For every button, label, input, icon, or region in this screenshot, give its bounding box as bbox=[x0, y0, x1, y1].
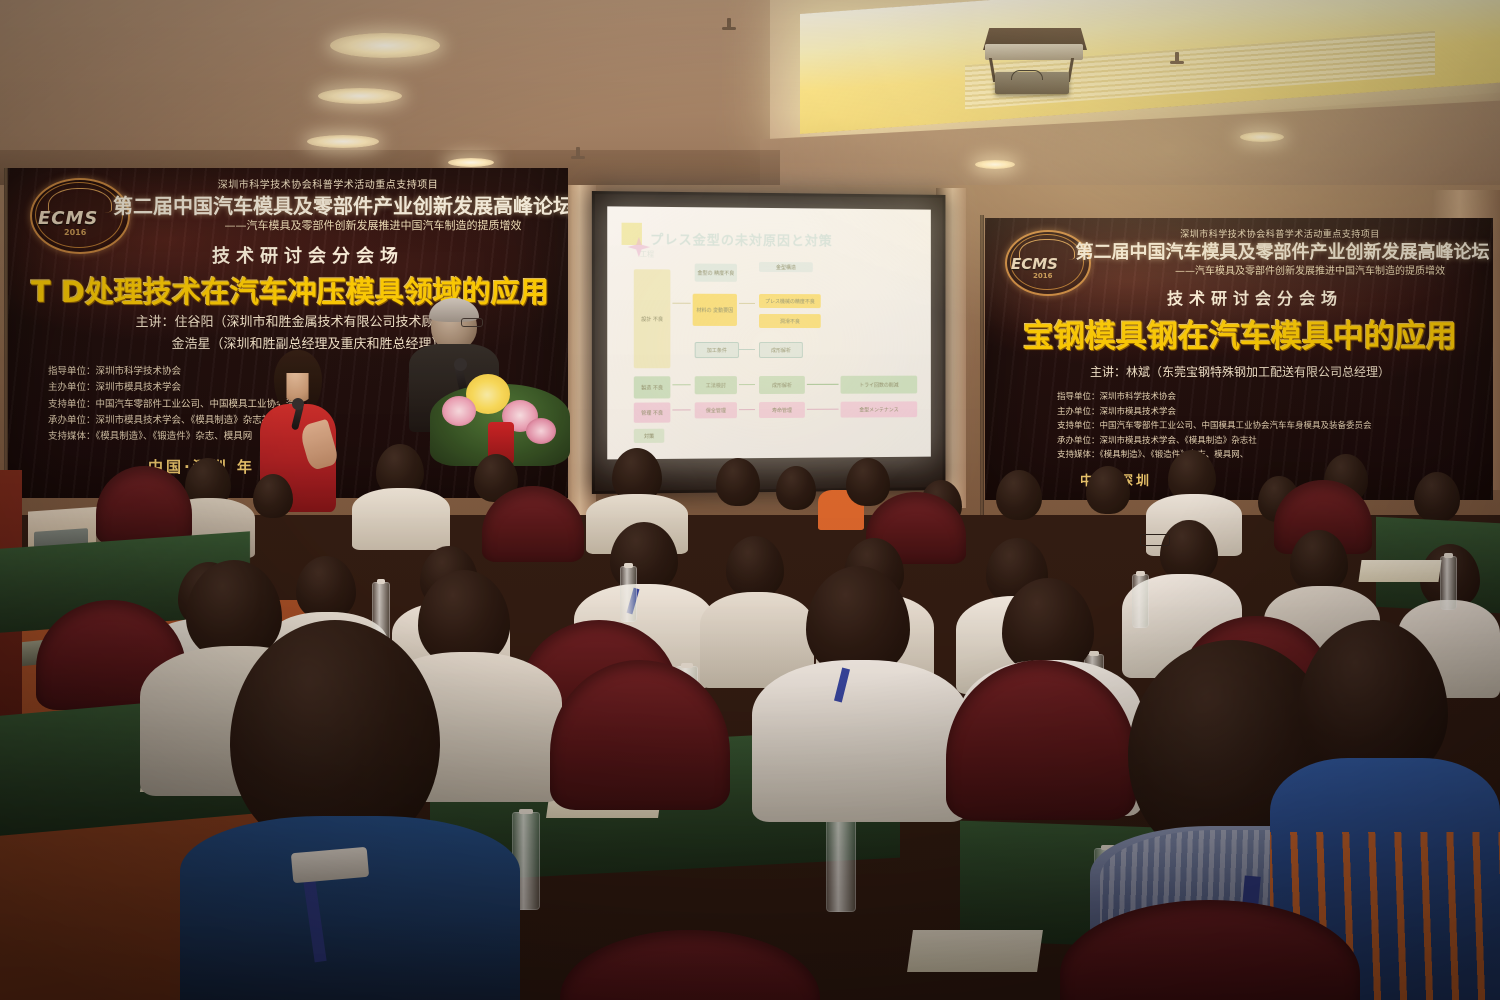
right-banner-section: 技术研讨会分会场 bbox=[1065, 290, 1445, 308]
projector-cable bbox=[1011, 70, 1043, 80]
ecms-logo-year: 2016 bbox=[64, 228, 86, 237]
flow-box: 保全管理 bbox=[695, 402, 737, 418]
flow-box: 製造 不良 bbox=[634, 376, 671, 398]
downlight-icon bbox=[330, 33, 440, 58]
flow-box: プレス機械の精度不良 bbox=[759, 294, 821, 308]
foreground-person-left bbox=[180, 620, 520, 1000]
flow-arrow bbox=[807, 409, 839, 410]
flow-box: 成形解析 bbox=[759, 376, 805, 394]
downlight-icon bbox=[307, 135, 379, 148]
left-banner-subheadline: ——汽车模具及零部件创新发展推进中国汽车制造的提质增效 bbox=[158, 220, 568, 233]
left-banner-supporter-line: 深圳市科学技术协会科普学术活动重点支持项目 bbox=[118, 180, 538, 192]
eyeglasses-icon bbox=[461, 318, 483, 327]
flow-box: 潤滑不良 bbox=[759, 314, 821, 328]
flow-box: 材料の 変動要因 bbox=[693, 294, 737, 326]
sprinkler-icon bbox=[576, 147, 580, 159]
flow-box: 金型の 精度不良 bbox=[695, 264, 737, 282]
sprinkler-icon bbox=[1175, 52, 1179, 64]
flow-box: 金型構造 bbox=[759, 262, 813, 272]
right-banner-org-line: 主办单位：深圳市模具技术学会 bbox=[1057, 405, 1372, 420]
flow-box: 成形解析 bbox=[759, 342, 803, 358]
flow-arrow bbox=[739, 349, 755, 350]
slide-subtitle: 工程 bbox=[640, 249, 654, 259]
right-banner-org-line: 指导单位：深圳市科学技术协会 bbox=[1057, 390, 1372, 405]
flow-box: 寿命管理 bbox=[759, 402, 805, 418]
lily-flower bbox=[442, 396, 476, 426]
downlight-icon bbox=[448, 158, 494, 167]
right-banner-subheadline: ——汽车模具及零部件创新发展推进中国汽车制造的提质增效 bbox=[1115, 266, 1493, 278]
flow-box: トライ回数の削減 bbox=[841, 376, 918, 394]
microphone-head-icon bbox=[292, 398, 304, 410]
downlight-icon bbox=[1240, 132, 1284, 142]
handout-paper bbox=[907, 930, 1043, 972]
flow-arrow bbox=[739, 384, 755, 385]
flow-arrow bbox=[807, 384, 839, 385]
flow-arrow bbox=[672, 409, 690, 410]
flow-arrow bbox=[739, 409, 755, 410]
bottle-cap bbox=[1444, 553, 1452, 558]
conference-hall-photo: ECMS 2016 深圳市科学技术协会科普学术活动重点支持项目 第二届中国汽车模… bbox=[0, 0, 1500, 1000]
ecms-logo-year: 2016 bbox=[1033, 272, 1052, 280]
audience-body bbox=[752, 660, 968, 822]
right-banner-title: 宝钢模具钢在汽车模具中的应用 bbox=[1005, 320, 1475, 356]
flow-box: 金型メンテナンス bbox=[841, 401, 918, 417]
projector-shelf bbox=[985, 44, 1083, 60]
chair bbox=[560, 930, 820, 1000]
eyeglasses-icon bbox=[1140, 534, 1170, 546]
flow-arrow bbox=[672, 303, 690, 304]
flow-box: 加工条件 bbox=[695, 342, 739, 358]
flow-arrow bbox=[672, 384, 690, 385]
ecms-logo-word: ECMS bbox=[38, 208, 98, 229]
right-banner-speaker-1: 主讲：林斌（东莞宝钢特殊钢加工配送有限公司总经理） bbox=[1025, 366, 1455, 380]
right-banner-headline: 第二届中国汽车模具及零部件产业创新发展高峰论坛 bbox=[1070, 243, 1493, 264]
left-banner-section: 技术研讨会分会场 bbox=[98, 247, 518, 268]
flow-arrow bbox=[739, 303, 755, 304]
downlight-icon bbox=[975, 160, 1015, 169]
sprinkler-icon bbox=[727, 18, 731, 30]
flow-box: 管理 不良 bbox=[634, 402, 671, 422]
slide-title: プレス金型の未対原因と対策 bbox=[650, 229, 833, 249]
downlight-icon bbox=[318, 88, 402, 104]
foreground-blue-shirt bbox=[180, 816, 520, 1000]
ceiling-projector bbox=[975, 28, 1095, 90]
flow-box: 設計 不良 bbox=[634, 269, 671, 368]
flow-box: 工法検討 bbox=[695, 376, 737, 394]
ecms-logo-word: ECMS bbox=[1011, 255, 1058, 273]
left-banner-headline: 第二届中国汽车模具及零部件产业创新发展高峰论坛 bbox=[108, 195, 568, 218]
projection-screen-surface: プレス金型の未対原因と対策 工程 設計 不良 製造 不良 管理 不良 対策 金型… bbox=[607, 206, 931, 459]
right-banner-supporter-line: 深圳市科学技术协会科普学术活动重点支持项目 bbox=[1080, 230, 1480, 240]
